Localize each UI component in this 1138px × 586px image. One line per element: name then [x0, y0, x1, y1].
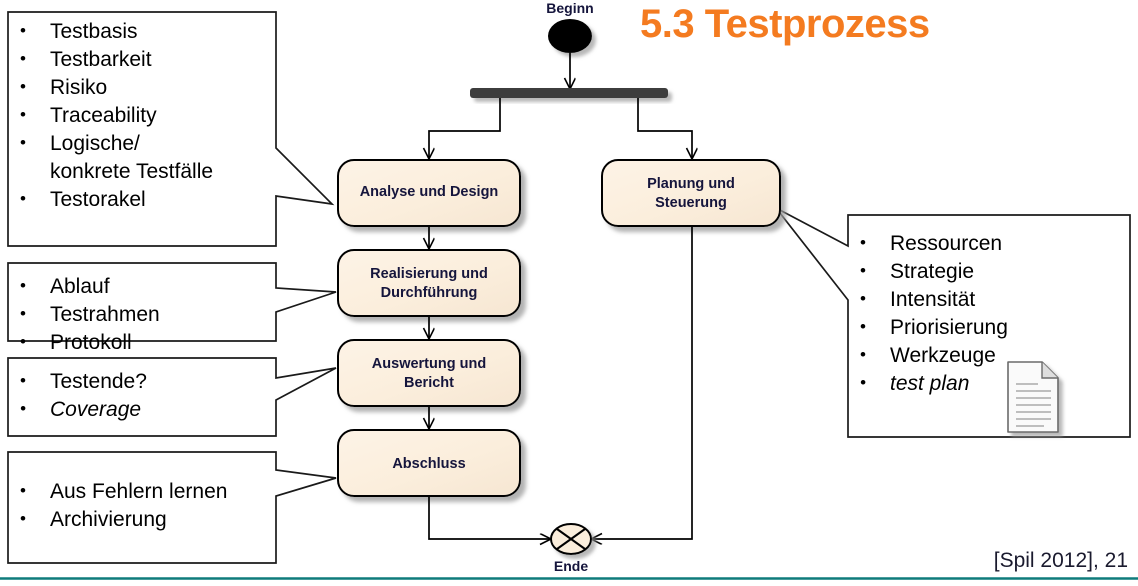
fork-bar [470, 88, 668, 98]
start-node-label: Beginn [546, 0, 593, 16]
activity-node-realisierung[interactable]: Realisierung und Durchführung [338, 250, 520, 316]
list-item: Intensität [848, 286, 1130, 314]
list-item: Strategie [848, 258, 1130, 286]
slide-canvas: Beginn Analyse und Design Realisierung u… [0, 0, 1138, 586]
activity-node-abschluss[interactable]: Abschluss [338, 430, 520, 496]
callout-abschluss: Aus Fehlern lernen Archivierung [8, 478, 276, 534]
end-node [551, 524, 591, 554]
activity-label-realisierung-line1: Realisierung und [370, 266, 488, 282]
list-item: Protokoll [8, 329, 276, 357]
callout-auswertung-list: Testende? Coverage [8, 368, 276, 424]
activity-label-planung-line2: Steuerung [655, 195, 727, 211]
activity-label-realisierung-line2: Durchführung [381, 285, 478, 301]
start-node [548, 19, 592, 53]
activity-label-auswertung-line1: Auswertung und [372, 356, 486, 372]
list-item: test plan [848, 370, 1130, 398]
callout-analyse-list: Testbasis Testbarkeit Risiko Traceabilit… [8, 18, 276, 214]
list-item: Testbasis [8, 18, 276, 46]
list-item: Testbarkeit [8, 46, 276, 74]
activity-node-planung[interactable]: Planung und Steuerung [602, 160, 780, 226]
list-item: Testrahmen [8, 301, 276, 329]
page-title: 5.3 Testprozess [640, 2, 930, 47]
activity-label-planung-line1: Planung und [647, 176, 735, 192]
activity-label-abschluss: Abschluss [392, 456, 465, 472]
callout-abschluss-list: Aus Fehlern lernen Archivierung [8, 478, 276, 534]
callout-realisierung-list: Ablauf Testrahmen Protokoll [8, 273, 276, 357]
list-item: Werkzeuge [848, 342, 1130, 370]
list-item: Testorakel [8, 186, 276, 214]
callout-planung: Ressourcen Strategie Intensität Priorisi… [848, 230, 1130, 398]
list-item: Coverage [8, 396, 276, 424]
edge-fork-to-planung [638, 98, 692, 158]
activity-node-analyse[interactable]: Analyse und Design [338, 160, 520, 226]
activity-node-auswertung[interactable]: Auswertung und Bericht [338, 340, 520, 406]
callout-planung-list: Ressourcen Strategie Intensität Priorisi… [848, 230, 1130, 398]
list-item: Ressourcen [848, 230, 1130, 258]
edge-planung-to-end [592, 226, 692, 539]
end-node-label: Ende [554, 558, 588, 574]
activity-label-analyse: Analyse und Design [360, 184, 499, 200]
list-item: Traceability [8, 102, 276, 130]
list-item: konkrete Testfälle [8, 158, 276, 186]
list-item: Archivierung [8, 506, 276, 534]
edge-fork-to-analyse [429, 98, 500, 158]
activity-label-auswertung-line2: Bericht [404, 375, 454, 391]
list-item: Aus Fehlern lernen [8, 478, 276, 506]
edge-abschluss-to-end [429, 496, 550, 539]
callout-analyse: Testbasis Testbarkeit Risiko Traceabilit… [8, 18, 276, 214]
callout-auswertung: Testende? Coverage [8, 368, 276, 424]
list-item: Logische/ [8, 130, 276, 158]
source-citation: [Spil 2012], 21 [994, 549, 1128, 573]
list-item: Ablauf [8, 273, 276, 301]
callout-realisierung: Ablauf Testrahmen Protokoll [8, 273, 276, 357]
list-item: Testende? [8, 368, 276, 396]
list-item: Risiko [8, 74, 276, 102]
list-item: Priorisierung [848, 314, 1130, 342]
